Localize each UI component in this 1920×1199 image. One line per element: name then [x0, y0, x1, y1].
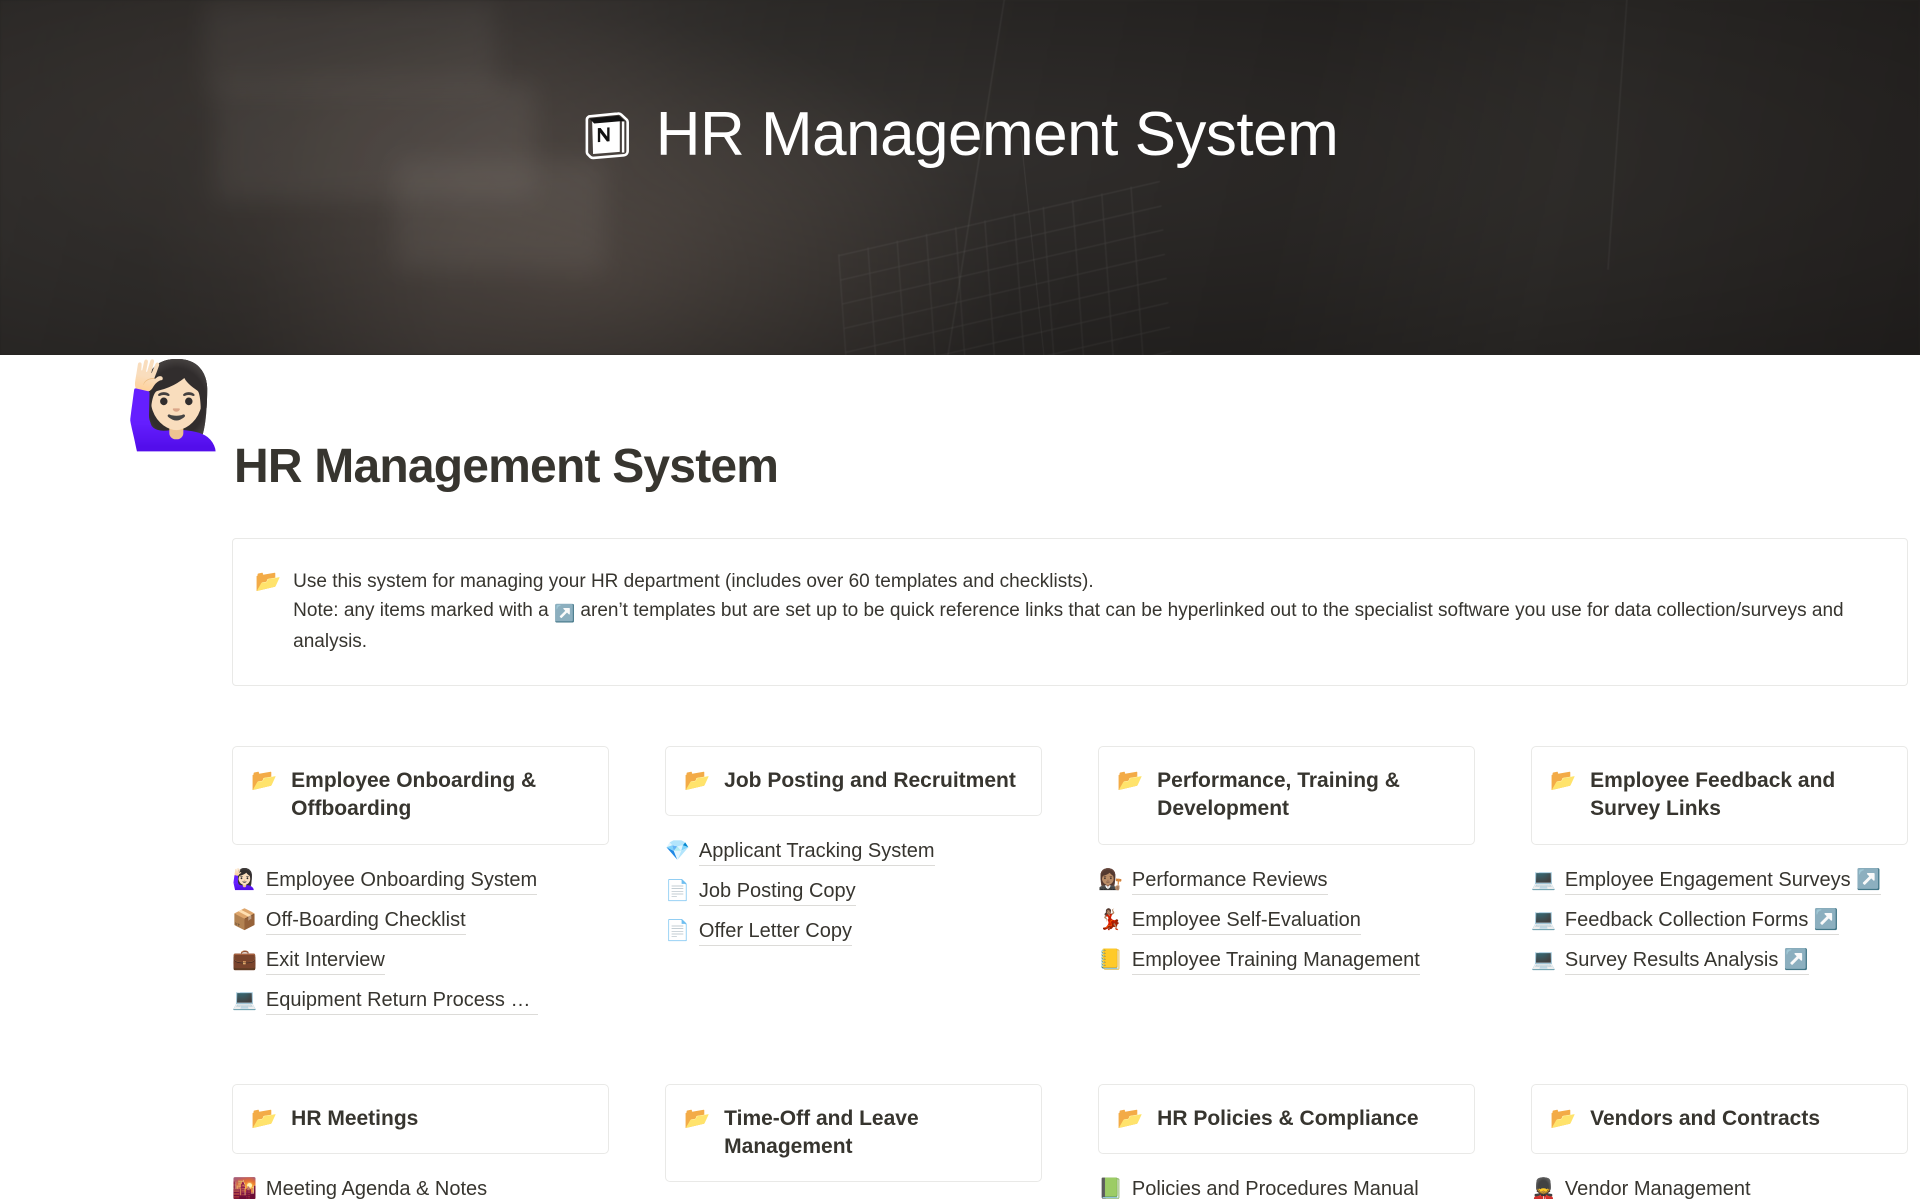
- section-title: Vendors and Contracts: [1590, 1105, 1820, 1133]
- folder-icon: 📂: [255, 567, 281, 657]
- page-link-item[interactable]: 💎Applicant Tracking System: [665, 834, 1042, 869]
- folder-icon: 📂: [1117, 1105, 1143, 1133]
- page-link-icon: 💎: [665, 837, 690, 865]
- callout-line-2: Note: any items marked with a ↗️ aren’t …: [293, 596, 1883, 657]
- section-column: 📂Vendors and Contracts💂Vendor Management: [1531, 1084, 1908, 1199]
- external-link-icon: ↗️: [554, 601, 575, 627]
- section-card[interactable]: 📂Job Posting and Recruitment: [665, 746, 1042, 816]
- page-link-item[interactable]: 🌇Meeting Agenda & Notes: [232, 1172, 609, 1199]
- page-link-icon: 📒: [1098, 946, 1123, 974]
- page-link-label[interactable]: Equipment Return Process Che…: [266, 986, 538, 1015]
- page-link-item[interactable]: 📒Employee Training Management: [1098, 943, 1475, 978]
- folder-icon: 📂: [1550, 767, 1576, 795]
- page-link-icon: 📦: [232, 906, 257, 934]
- section-column: 📂HR Policies & Compliance📗Policies and P…: [1098, 1084, 1475, 1199]
- page-link-item[interactable]: 💻Feedback Collection Forms ↗️: [1531, 903, 1908, 938]
- page-link-label[interactable]: Vendor Management: [1565, 1175, 1751, 1199]
- section-link-list: 🌇Meeting Agenda & Notes: [232, 1172, 609, 1199]
- notion-logo-icon: [582, 109, 634, 161]
- section-column: 📂HR Meetings🌇Meeting Agenda & Notes: [232, 1084, 609, 1199]
- section-link-list: 💻Employee Engagement Surveys ↗️💻Feedback…: [1531, 863, 1908, 978]
- page-link-item[interactable]: 💻Employee Engagement Surveys ↗️: [1531, 863, 1908, 898]
- section-title: Time-Off and Leave Management: [724, 1105, 1023, 1162]
- page-link-item[interactable]: 💼Exit Interview: [232, 943, 609, 978]
- page-link-item[interactable]: 💂Vendor Management: [1531, 1172, 1908, 1199]
- callout-line-2-before: Note: any items marked with a: [293, 600, 554, 621]
- page-link-item[interactable]: 📦Off-Boarding Checklist: [232, 903, 609, 938]
- page-link-icon: 💼: [232, 946, 257, 974]
- page-link-label[interactable]: Policies and Procedures Manual: [1132, 1175, 1419, 1199]
- section-card[interactable]: 📂Performance, Training & Development: [1098, 746, 1475, 845]
- section-card[interactable]: 📂HR Meetings: [232, 1084, 609, 1154]
- folder-icon: 📂: [684, 1105, 710, 1133]
- page-link-label[interactable]: Feedback Collection Forms ↗️: [1565, 906, 1839, 935]
- section-title: Performance, Training & Development: [1157, 767, 1456, 824]
- page-link-label[interactable]: Performance Reviews: [1132, 866, 1328, 895]
- cover-title: HR Management System: [656, 104, 1339, 166]
- page-link-label[interactable]: Survey Results Analysis ↗️: [1565, 946, 1809, 975]
- page-link-icon: 💻: [1531, 906, 1556, 934]
- page-link-icon: 📄: [665, 917, 690, 945]
- intro-callout: 📂 Use this system for managing your HR d…: [232, 538, 1908, 686]
- page-content: 🙋🏻‍♀️ HR Management System 📂 Use this sy…: [110, 438, 1810, 1199]
- page-link-icon: 👩🏽‍⚖️: [1098, 866, 1123, 894]
- page-link-label[interactable]: Employee Onboarding System: [266, 866, 537, 895]
- cover-title-row: HR Management System: [0, 104, 1920, 166]
- section-link-list: 💂Vendor Management: [1531, 1172, 1908, 1199]
- section-title: Job Posting and Recruitment: [724, 767, 1016, 795]
- page-link-item[interactable]: 📄Job Posting Copy: [665, 874, 1042, 909]
- page-link-label[interactable]: Off-Boarding Checklist: [266, 906, 466, 935]
- callout-line-1: Use this system for managing your HR dep…: [293, 567, 1883, 596]
- page-link-icon: 📄: [665, 877, 690, 905]
- page-link-item[interactable]: 🙋🏻‍♀️Employee Onboarding System: [232, 863, 609, 898]
- folder-icon: 📂: [251, 1105, 277, 1133]
- page-cover: HR Management System: [0, 0, 1920, 355]
- page-link-label[interactable]: Employee Self-Evaluation: [1132, 906, 1361, 935]
- page-link-item[interactable]: 💻Survey Results Analysis ↗️: [1531, 943, 1908, 978]
- page-link-label[interactable]: Meeting Agenda & Notes: [266, 1175, 487, 1199]
- page-icon-emoji[interactable]: 🙋🏻‍♀️: [124, 363, 229, 447]
- page-link-label[interactable]: Job Posting Copy: [699, 877, 856, 906]
- section-title: Employee Feedback and Survey Links: [1590, 767, 1889, 824]
- section-title: Employee Onboarding & Offboarding: [291, 767, 590, 824]
- section-column: 📂Time-Off and Leave Management: [665, 1084, 1042, 1199]
- page-link-label[interactable]: Employee Engagement Surveys ↗️: [1565, 866, 1881, 895]
- section-link-list: 💎Applicant Tracking System📄Job Posting C…: [665, 834, 1042, 949]
- page-link-icon: 💃🏽: [1098, 906, 1123, 934]
- page-link-label[interactable]: Offer Letter Copy: [699, 917, 852, 946]
- section-card[interactable]: 📂Employee Feedback and Survey Links: [1531, 746, 1908, 845]
- cover-vignette: [0, 0, 1920, 355]
- section-card[interactable]: 📂Employee Onboarding & Offboarding: [232, 746, 609, 845]
- page-link-icon: 📗: [1098, 1175, 1123, 1199]
- callout-text: Use this system for managing your HR dep…: [293, 567, 1883, 657]
- section-card[interactable]: 📂Time-Off and Leave Management: [665, 1084, 1042, 1183]
- page-title: HR Management System: [234, 438, 1810, 496]
- page-link-icon: 💻: [232, 986, 257, 1014]
- sections-grid: 📂Employee Onboarding & Offboarding🙋🏻‍♀️E…: [232, 746, 1908, 1199]
- page-link-icon: 💻: [1531, 866, 1556, 894]
- section-title: HR Meetings: [291, 1105, 418, 1133]
- section-card[interactable]: 📂HR Policies & Compliance: [1098, 1084, 1475, 1154]
- page-link-item[interactable]: 👩🏽‍⚖️Performance Reviews: [1098, 863, 1475, 898]
- section-link-list: 🙋🏻‍♀️Employee Onboarding System📦Off-Boar…: [232, 863, 609, 1018]
- section-column: 📂Employee Onboarding & Offboarding🙋🏻‍♀️E…: [232, 746, 609, 1018]
- section-column: 📂Employee Feedback and Survey Links💻Empl…: [1531, 746, 1908, 1018]
- page-link-item[interactable]: 💻Equipment Return Process Che…: [232, 983, 609, 1018]
- page-link-icon: 🌇: [232, 1175, 257, 1199]
- section-column: 📂Performance, Training & Development👩🏽‍⚖…: [1098, 746, 1475, 1018]
- page-link-item[interactable]: 📄Offer Letter Copy: [665, 914, 1042, 949]
- page-link-icon: 💻: [1531, 946, 1556, 974]
- folder-icon: 📂: [251, 767, 277, 795]
- page-body: 🙋🏻‍♀️ HR Management System 📂 Use this sy…: [0, 438, 1920, 1199]
- section-link-list: 👩🏽‍⚖️Performance Reviews💃🏽Employee Self-…: [1098, 863, 1475, 978]
- page-link-icon: 💂: [1531, 1175, 1556, 1199]
- page-link-item[interactable]: 📗Policies and Procedures Manual: [1098, 1172, 1475, 1199]
- page-link-icon: 🙋🏻‍♀️: [232, 866, 257, 894]
- page-link-label[interactable]: Exit Interview: [266, 946, 385, 975]
- section-card[interactable]: 📂Vendors and Contracts: [1531, 1084, 1908, 1154]
- page-link-label[interactable]: Applicant Tracking System: [699, 837, 935, 866]
- folder-icon: 📂: [1550, 1105, 1576, 1133]
- section-column: 📂Job Posting and Recruitment💎Applicant T…: [665, 746, 1042, 1018]
- page-link-item[interactable]: 💃🏽Employee Self-Evaluation: [1098, 903, 1475, 938]
- section-title: HR Policies & Compliance: [1157, 1105, 1418, 1133]
- folder-icon: 📂: [1117, 767, 1143, 795]
- section-link-list: 📗Policies and Procedures Manual: [1098, 1172, 1475, 1199]
- folder-icon: 📂: [684, 767, 710, 795]
- page-link-label[interactable]: Employee Training Management: [1132, 946, 1420, 975]
